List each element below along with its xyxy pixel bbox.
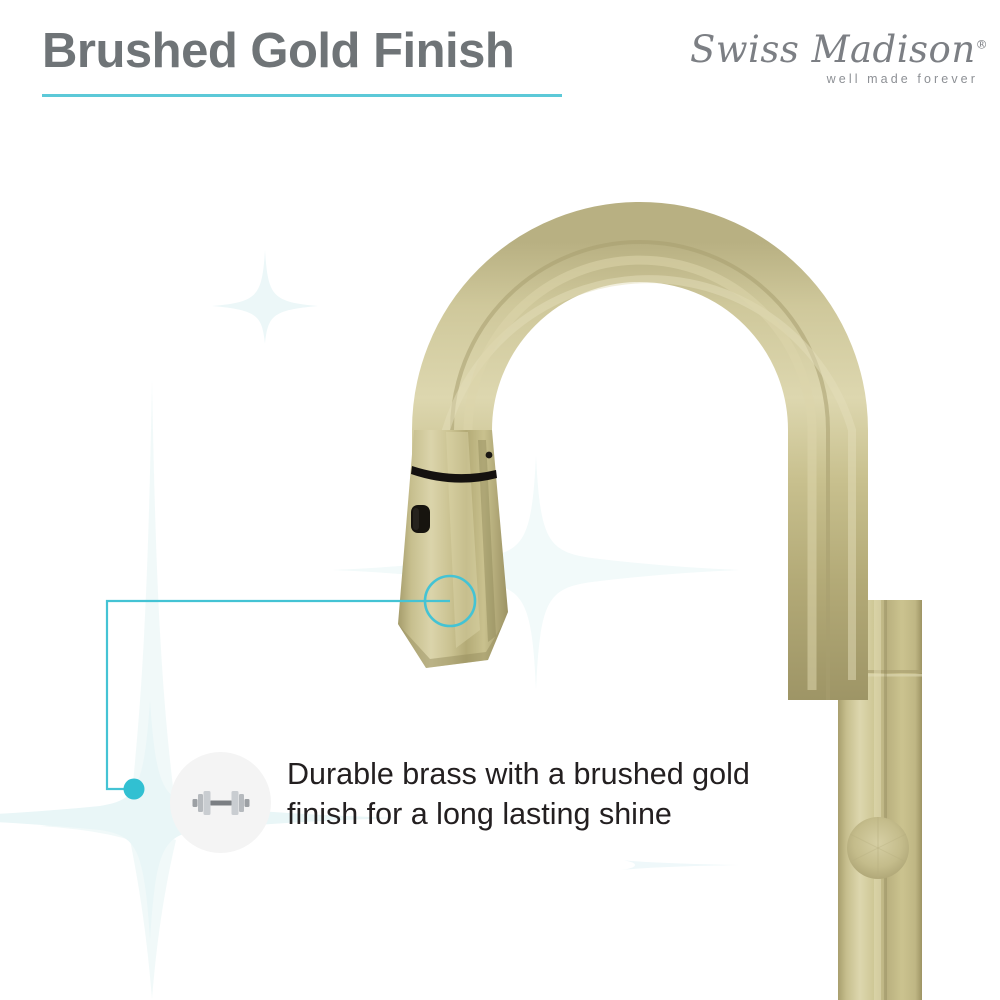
dumbbell-icon [185, 783, 257, 823]
brand-tagline: well made forever [827, 72, 978, 86]
registered-mark: ® [976, 38, 989, 52]
feature-callout: Durable brass with a brushed gold finish… [170, 744, 820, 853]
faucet-gooseneck-arc [446, 242, 852, 700]
brand-logo: Swiss Madison® well made forever [690, 28, 980, 90]
spray-head-screw-icon [486, 452, 493, 459]
brand-name: Swiss Madison® [690, 28, 980, 71]
faucet-handle-knob[interactable] [847, 817, 909, 879]
title-underline [42, 94, 562, 97]
feature-caption-text: Durable brass with a brushed gold finish… [287, 744, 807, 835]
page-title: Brushed Gold Finish [42, 25, 514, 79]
faucet-spray-head [398, 430, 508, 668]
product-feature-card: Brushed Gold Finish Swiss Madison® well … [0, 0, 1000, 1000]
brand-name-text: Swiss Madison [690, 28, 976, 71]
feature-icon-badge [170, 752, 271, 853]
spray-mode-button[interactable] [411, 505, 430, 533]
